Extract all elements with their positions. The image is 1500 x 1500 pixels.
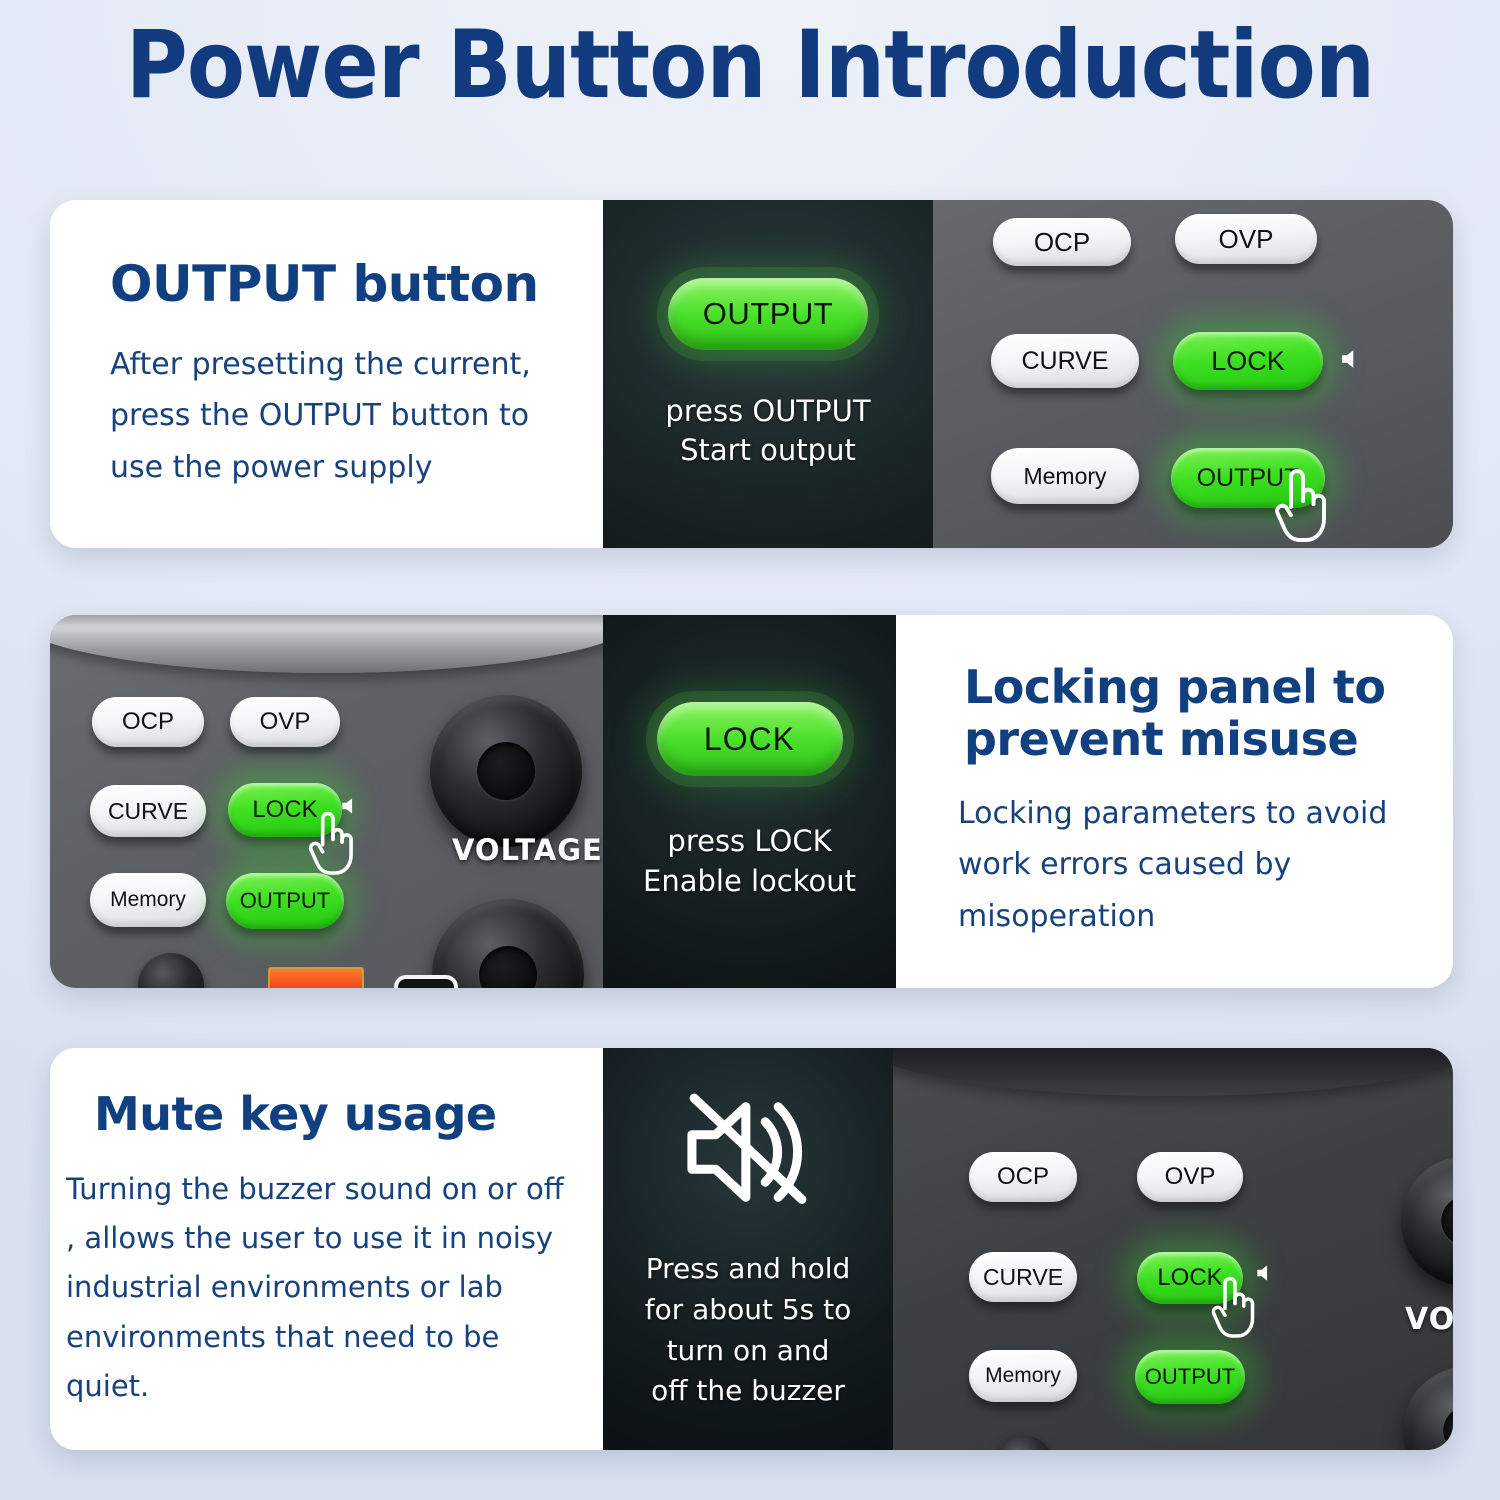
mute-speaker-icon (679, 1086, 817, 1223)
card-2-text-pane: Locking panel to prevent misuse Locking … (896, 615, 1449, 988)
card-3-dark-pane: Press and hold for about 5s to turn on a… (603, 1048, 893, 1450)
pad-button-ocp[interactable]: OCP (92, 697, 204, 747)
pad-button-ovp[interactable]: OVP (230, 697, 340, 747)
card-3-caption-line2: for about 5s to (645, 1290, 852, 1331)
pad-button-memory[interactable]: Memory (991, 448, 1139, 504)
voltage-knob-upper[interactable] (430, 695, 582, 847)
voltage-knob-upper[interactable] (1401, 1156, 1453, 1286)
card-locking-panel: OCP OVP CURVE LOCK Memory OUTPUT VOLTAGE… (50, 615, 1453, 988)
card-1-caption-line2: Start output (665, 431, 870, 470)
card-mute-key: Mute key usage Turning the buzzer sound … (50, 1048, 1453, 1450)
card-2-caption-line2: Enable lockout (643, 862, 856, 901)
pad-button-ovp[interactable]: OVP (1175, 214, 1317, 264)
pad-button-curve[interactable]: CURVE (991, 334, 1139, 388)
pad-button-ocp[interactable]: OCP (969, 1152, 1077, 1202)
card-3-caption-line4: off the buzzer (645, 1371, 852, 1412)
card-2-dark-pane: LOCK press LOCK Enable lockout (603, 615, 896, 988)
pad-button-lock[interactable]: LOCK (1173, 332, 1323, 390)
hand-cursor-icon (1205, 1270, 1265, 1347)
card-1-text-pane: OUTPUT button After presetting the curre… (50, 200, 603, 548)
voltage-knob-lower[interactable] (432, 899, 584, 988)
pad-button-ovp[interactable]: OVP (1137, 1152, 1243, 1202)
card-2-heading: Locking panel to prevent misuse (964, 661, 1386, 766)
card-3-caption-line1: Press and hold (645, 1249, 852, 1290)
lock-glow-button[interactable]: LOCK (657, 702, 843, 776)
card-3-heading: Mute key usage (94, 1087, 573, 1141)
mute-icon (1337, 344, 1367, 379)
voltage-knob-lower[interactable] (1403, 1366, 1453, 1450)
pad-button-curve[interactable]: CURVE (969, 1252, 1077, 1302)
pad-button-output[interactable]: OUTPUT (1135, 1350, 1245, 1404)
card-output-button: OUTPUT button After presetting the curre… (50, 200, 1453, 548)
voltage-knob-label: VO (1405, 1302, 1453, 1337)
pad-button-curve[interactable]: CURVE (90, 785, 206, 837)
card-2-device-pane: OCP OVP CURVE LOCK Memory OUTPUT VOLTAGE (50, 615, 603, 988)
card-1-device-pane: OCP OVP CURVE LOCK Memory OUTPUT (933, 200, 1453, 548)
card-1-dark-pane: OUTPUT press OUTPUT Start output (603, 200, 933, 548)
hand-cursor-icon (302, 805, 364, 884)
card-3-caption: Press and hold for about 5s to turn on a… (645, 1249, 852, 1411)
hand-cursor-icon (1267, 462, 1339, 548)
device-bezel (50, 615, 603, 673)
page-title: Power Button Introduction (75, 14, 1425, 117)
pad-button-memory[interactable]: Memory (90, 873, 206, 927)
power-knob[interactable] (997, 1436, 1053, 1450)
usb-a-port (268, 967, 364, 988)
card-2-caption: press LOCK Enable lockout (643, 822, 856, 900)
usb-c-port (394, 975, 458, 988)
output-glow-button[interactable]: OUTPUT (668, 278, 868, 350)
card-1-heading: OUTPUT button (110, 255, 549, 313)
card-2-caption-line1: press LOCK (643, 822, 856, 861)
card-3-caption-line3: turn on and (645, 1331, 852, 1372)
card-1-body: After presetting the current, press the … (110, 339, 549, 494)
card-1-caption-line1: press OUTPUT (665, 392, 870, 431)
voltage-knob-label: VOLTAGE (452, 833, 603, 867)
card-3-device-pane: OCP OVP CURVE LOCK Memory OUTPUT VO (893, 1048, 1453, 1450)
card-2-body: Locking parameters to avoid work errors … (958, 788, 1395, 943)
card-3-body: Turning the buzzer sound on or off , all… (66, 1165, 573, 1411)
card-1-caption: press OUTPUT Start output (665, 392, 870, 470)
device-bezel (893, 1048, 1453, 1096)
card-3-text-pane: Mute key usage Turning the buzzer sound … (50, 1048, 603, 1450)
pad-button-memory[interactable]: Memory (969, 1350, 1077, 1402)
power-knob[interactable] (138, 953, 204, 988)
card-2-heading-line2: prevent misuse (964, 713, 1386, 765)
card-2-heading-line1: Locking panel to (964, 661, 1386, 713)
pad-button-ocp[interactable]: OCP (993, 218, 1131, 266)
